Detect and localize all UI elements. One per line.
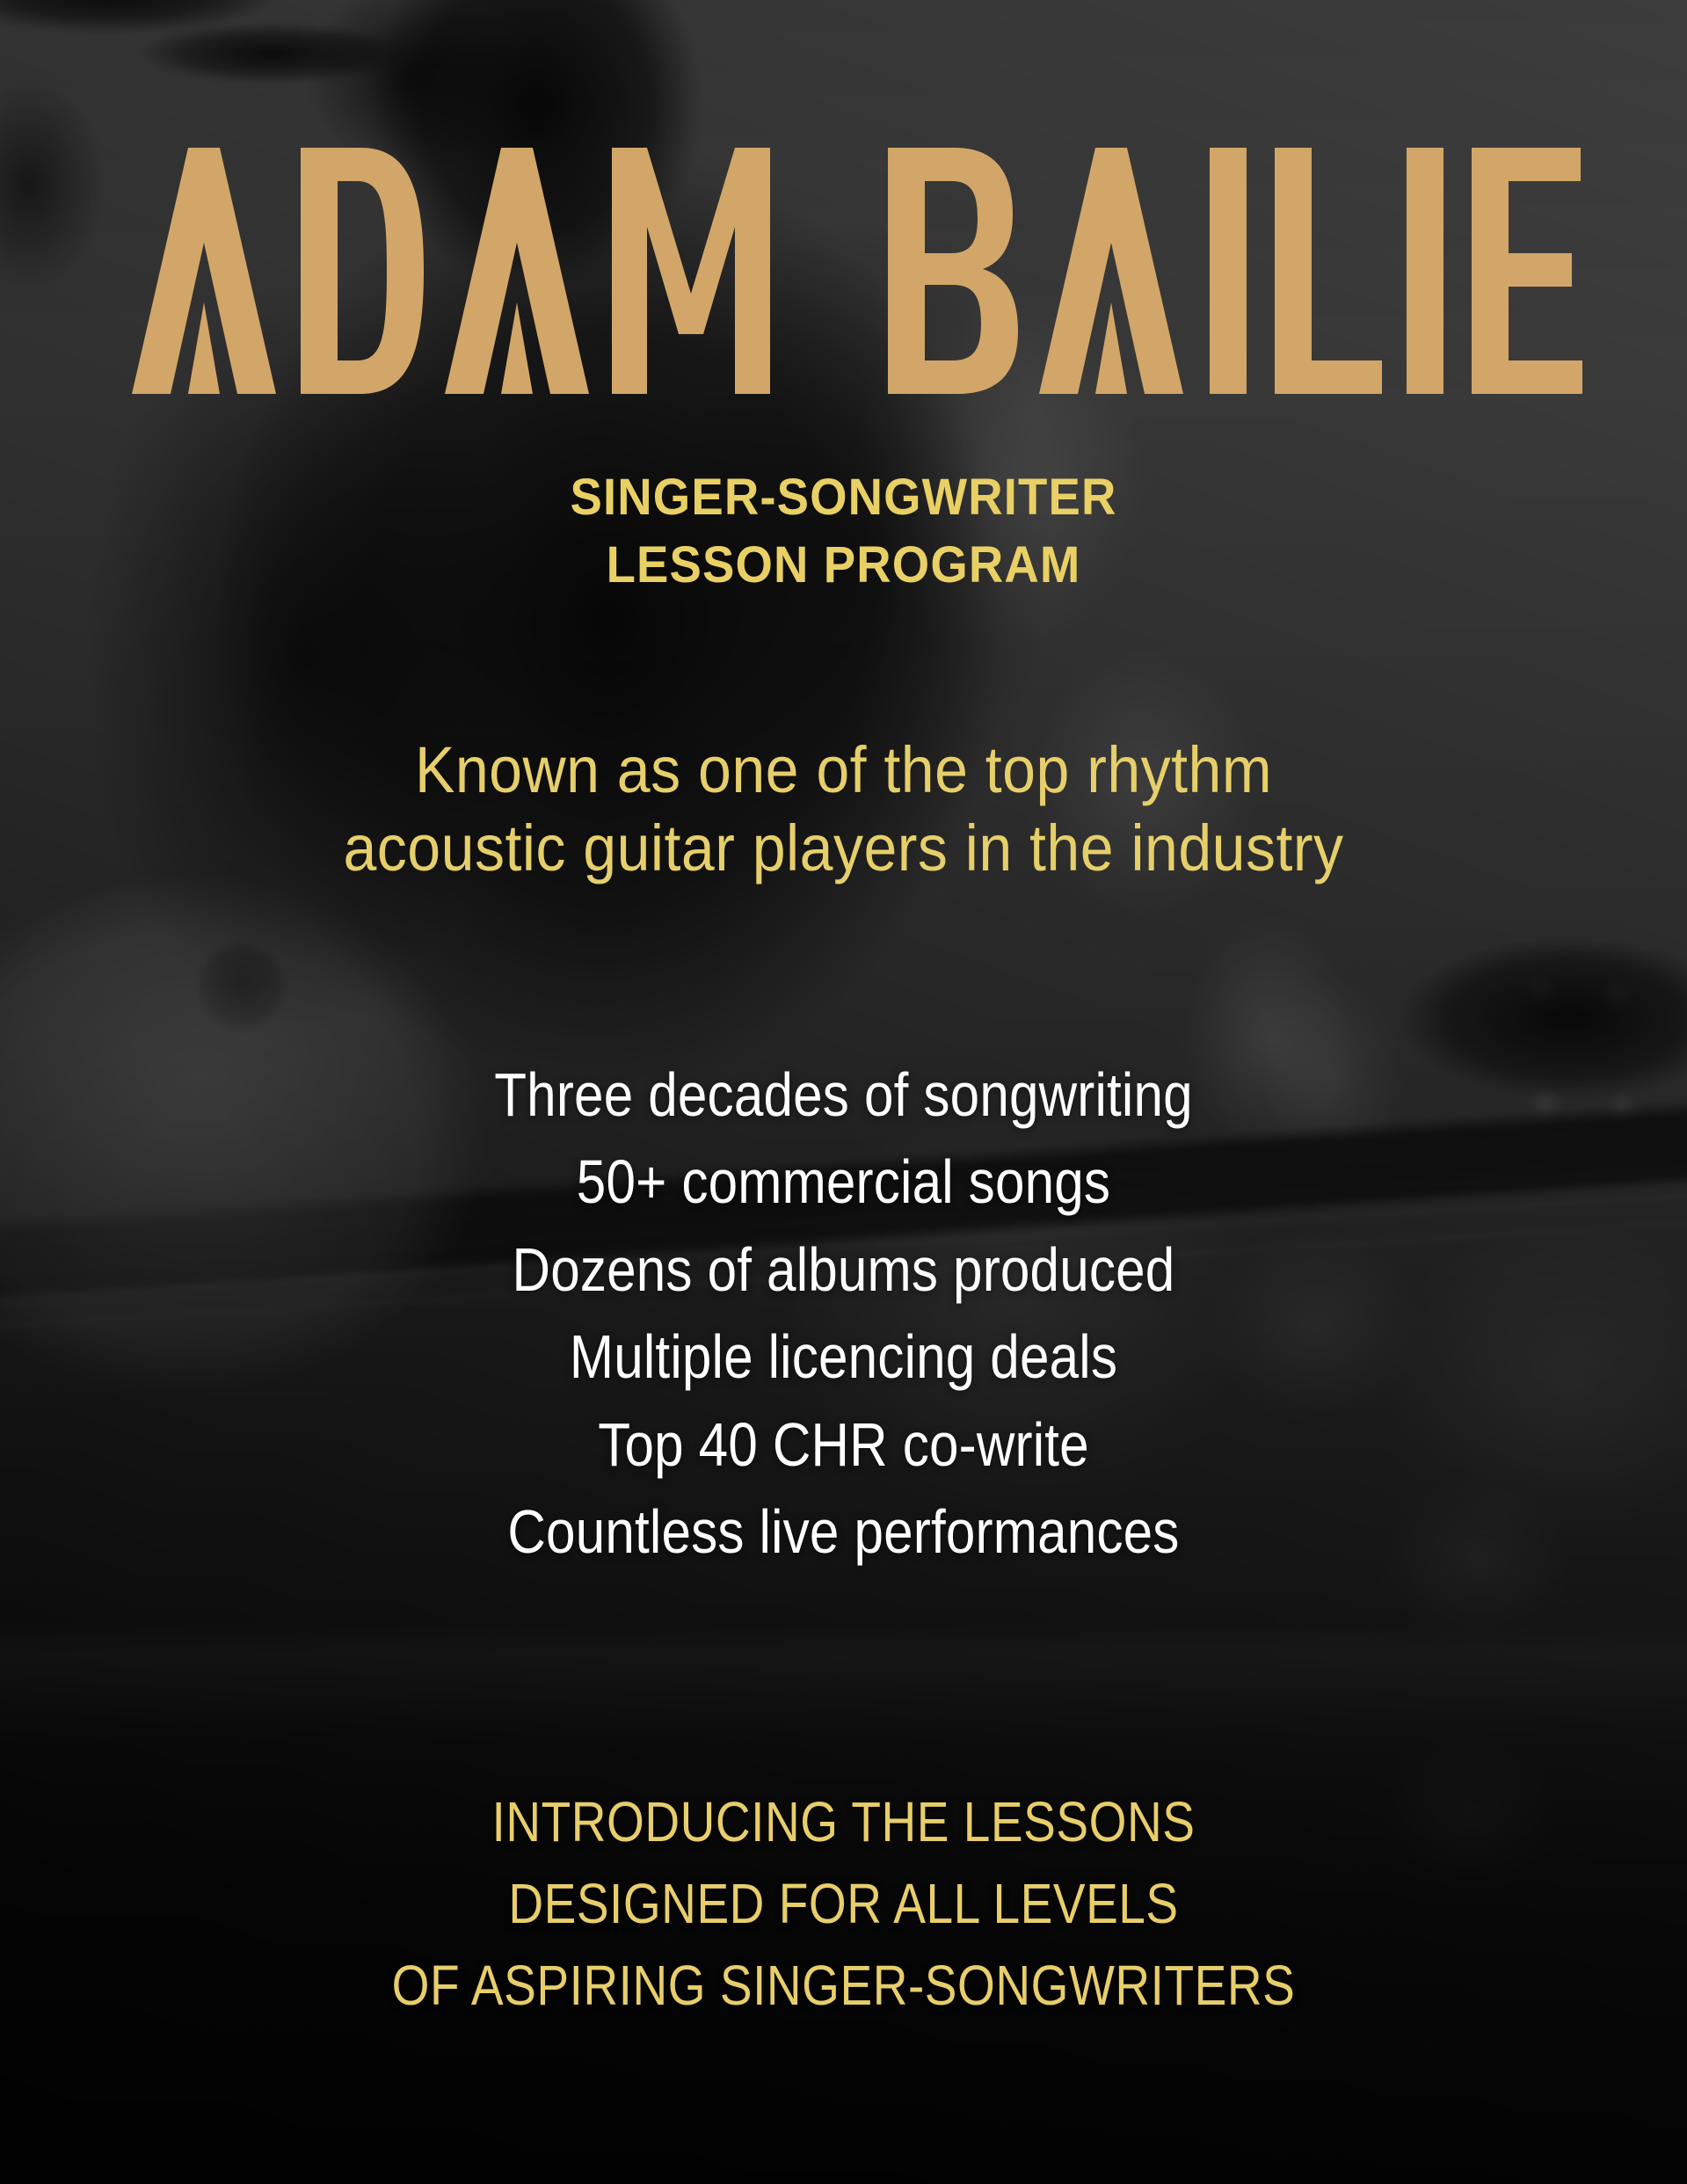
credential-item: Countless live performances <box>118 1489 1568 1576</box>
credential-item: Dozens of albums produced <box>118 1227 1568 1314</box>
tagline-line-1: Known as one of the top rhythm <box>68 732 1619 810</box>
poster-title: ADAM BAILIE <box>0 130 1687 411</box>
tagline-line-2: acoustic guitar players in the industry <box>68 810 1619 888</box>
credential-item: Multiple licencing deals <box>118 1314 1568 1401</box>
credential-item: 50+ commercial songs <box>118 1139 1568 1226</box>
poster: ADAM BAILIE <box>0 0 1687 2184</box>
callout-line-3: OF ASPIRING SINGER-SONGWRITERS <box>118 1945 1568 2027</box>
callout-line-1: INTRODUCING THE LESSONS <box>118 1781 1568 1863</box>
credential-item: Three decades of songwriting <box>118 1052 1568 1139</box>
poster-subtitle: SINGER-SONGWRITER LESSON PROGRAM <box>51 464 1637 599</box>
subtitle-line-1: SINGER-SONGWRITER <box>51 464 1637 532</box>
subtitle-line-2: LESSON PROGRAM <box>51 532 1637 600</box>
callout-line-2: DESIGNED FOR ALL LEVELS <box>118 1863 1568 1945</box>
poster-callout: INTRODUCING THE LESSONS DESIGNED FOR ALL… <box>118 1781 1568 2026</box>
title-artwork: ADAM BAILIE <box>97 130 1591 411</box>
poster-content: ADAM BAILIE <box>0 0 1687 2184</box>
credentials-list: Three decades of songwriting 50+ commerc… <box>118 1052 1568 1576</box>
poster-tagline: Known as one of the top rhythm acoustic … <box>68 732 1619 888</box>
credential-item: Top 40 CHR co-write <box>118 1401 1568 1489</box>
